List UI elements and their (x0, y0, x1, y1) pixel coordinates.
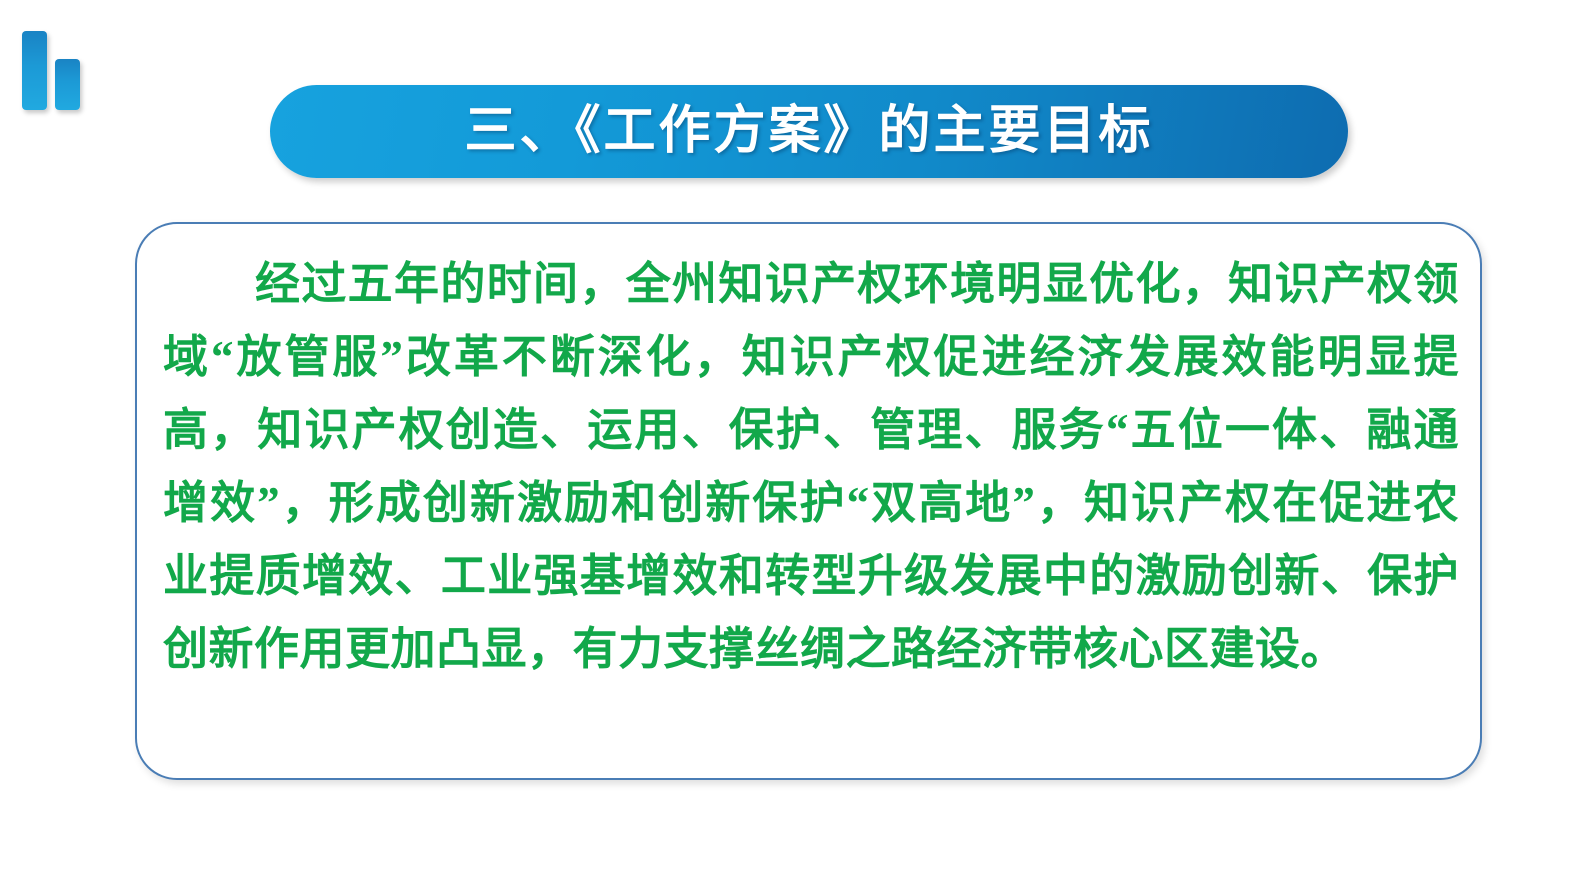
goals-paragraph: 经过五年的时间，全州知识产权环境明显优化，知识产权领域“放管服”改革不断深化，知… (163, 248, 1459, 686)
section-title-banner: 三、《工作方案》的主要目标 (270, 85, 1348, 178)
decorative-bar-tall-icon (22, 31, 47, 110)
decorative-bar-short-icon (55, 59, 80, 110)
content-card: 经过五年的时间，全州知识产权环境明显优化，知识产权领域“放管服”改革不断深化，知… (135, 222, 1482, 780)
decorative-bars-mark (22, 26, 92, 110)
page-title: 三、《工作方案》的主要目标 (464, 106, 1153, 158)
slide-canvas: 三、《工作方案》的主要目标 经过五年的时间，全州知识产权环境明显优化，知识产权领… (0, 0, 1587, 893)
